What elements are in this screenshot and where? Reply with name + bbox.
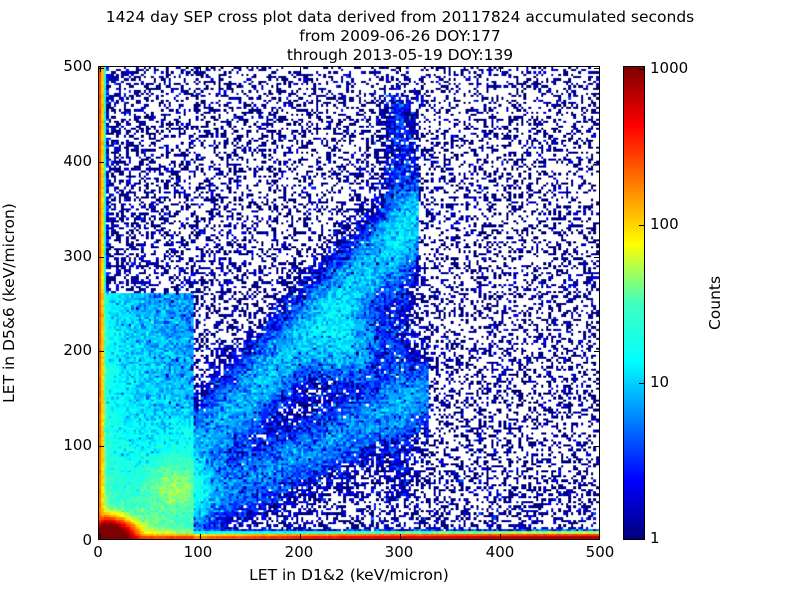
x-axis-tick xyxy=(300,534,301,539)
x-tick-label-200: 200 xyxy=(285,543,314,561)
y-tick-label-200: 200 xyxy=(63,341,92,359)
colorbar[interactable] xyxy=(623,66,645,540)
x-axis-tick xyxy=(500,534,501,539)
x-tick-label-300: 300 xyxy=(385,543,414,561)
plot-title: 1424 day SEP cross plot data derived fro… xyxy=(0,8,800,65)
x-axis-tick xyxy=(200,534,201,539)
y-axis-tick xyxy=(99,351,104,352)
x-axis-tick xyxy=(400,67,401,72)
x-axis-label: LET in D1&2 (keV/micron) xyxy=(98,566,600,584)
y-axis-tick xyxy=(594,351,599,352)
figure-canvas: 1424 day SEP cross plot data derived fro… xyxy=(0,0,800,600)
colorbar-tick-label-1: 1 xyxy=(650,529,660,547)
x-axis-tick xyxy=(100,534,101,539)
y-axis-tick xyxy=(99,162,104,163)
y-tick-label-300: 300 xyxy=(63,247,92,265)
y-tick-label-0: 0 xyxy=(82,531,92,549)
colorbar-tick xyxy=(639,225,644,226)
colorbar-label: Counts xyxy=(706,276,724,330)
y-axis-tick xyxy=(594,446,599,447)
x-axis-tick xyxy=(400,534,401,539)
colorbar-tick-label-1000: 1000 xyxy=(650,59,688,77)
x-tick-label-500: 500 xyxy=(586,543,615,561)
y-axis-tick xyxy=(99,68,104,69)
colorbar-tick-label-100: 100 xyxy=(650,215,679,233)
y-axis-tick xyxy=(594,68,599,69)
x-tick-label-100: 100 xyxy=(184,543,213,561)
x-axis-tick xyxy=(200,67,201,72)
y-axis-tick xyxy=(99,257,104,258)
title-line-1: 1424 day SEP cross plot data derived fro… xyxy=(0,8,800,27)
y-tick-label-400: 400 xyxy=(63,152,92,170)
plot-axes[interactable] xyxy=(98,66,600,540)
colorbar-tick xyxy=(639,69,644,70)
x-tick-label-400: 400 xyxy=(486,543,515,561)
y-tick-label-100: 100 xyxy=(63,436,92,454)
y-axis-tick xyxy=(594,257,599,258)
title-line-2: from 2009-06-26 DOY:177 xyxy=(0,27,800,46)
colorbar-gradient xyxy=(624,67,644,539)
y-axis-tick xyxy=(594,162,599,163)
colorbar-tick-label-10: 10 xyxy=(650,373,669,391)
x-tick-label-0: 0 xyxy=(93,543,103,561)
x-axis-tick xyxy=(300,67,301,72)
y-tick-label-500: 500 xyxy=(63,57,92,75)
x-axis-tick xyxy=(500,67,501,72)
y-axis-label: LET in D5&6 (keV/micron) xyxy=(0,203,18,403)
y-axis-tick xyxy=(99,446,104,447)
colorbar-tick xyxy=(639,383,644,384)
scatter-density-canvas xyxy=(99,67,599,539)
